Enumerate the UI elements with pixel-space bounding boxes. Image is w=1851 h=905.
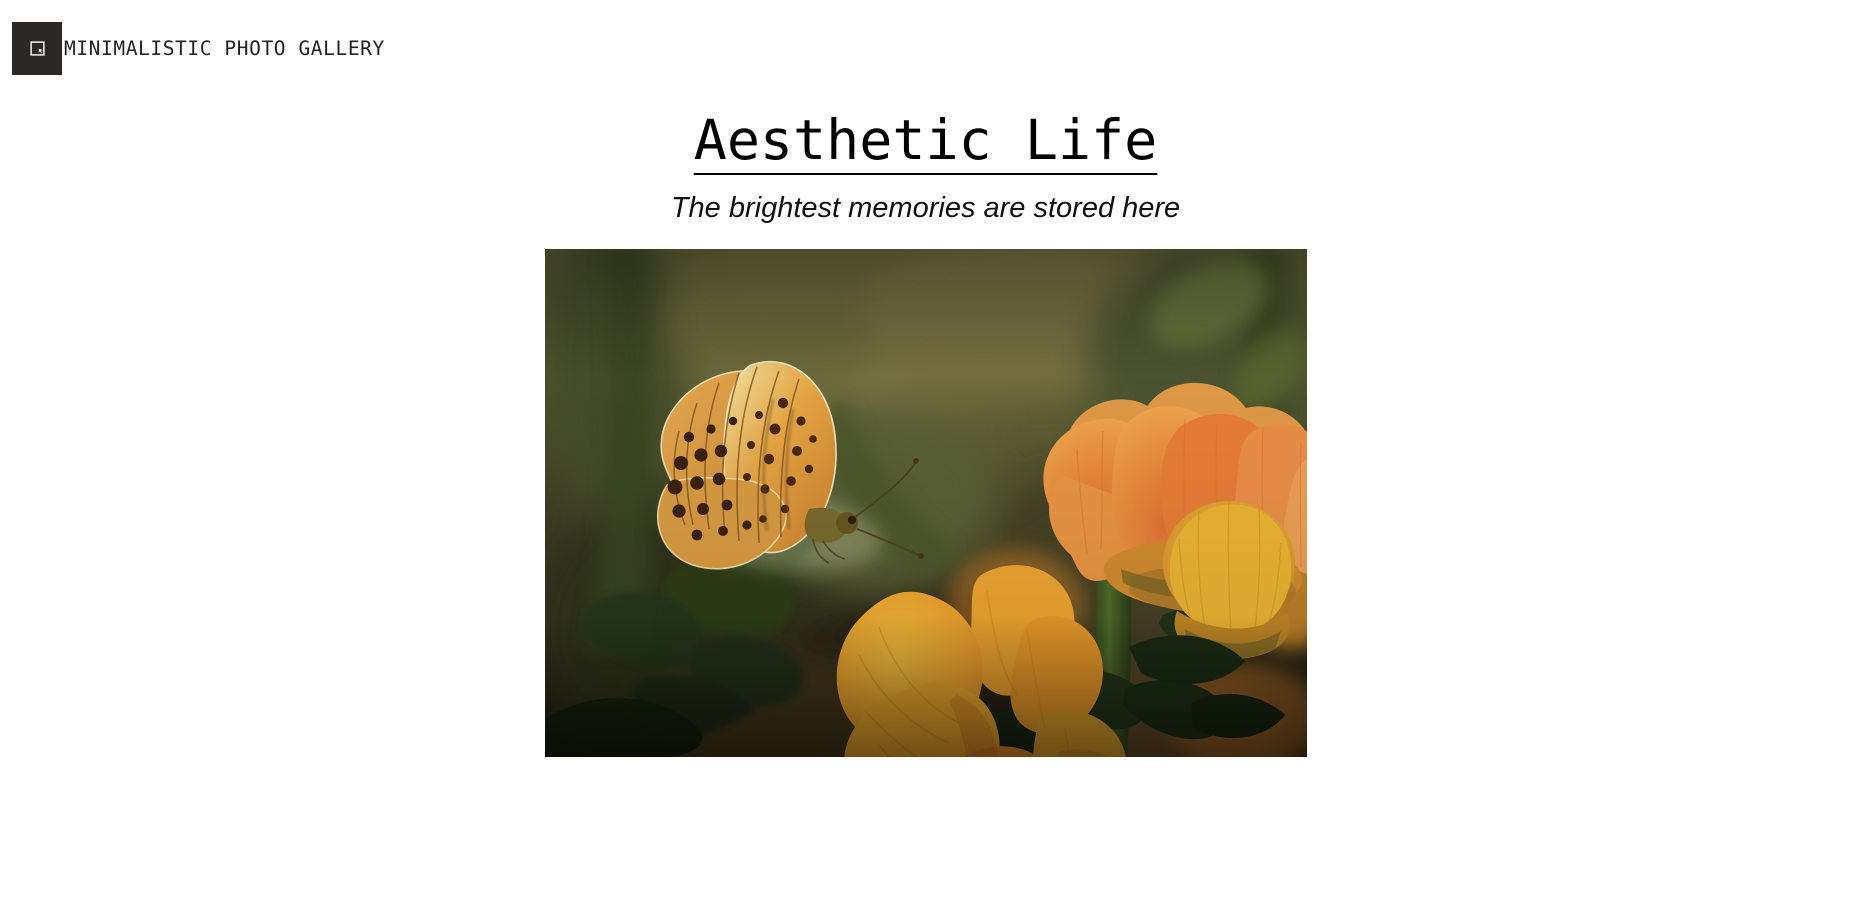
gallery-photo[interactable] (545, 249, 1307, 757)
page-title: Aesthetic Life (694, 112, 1158, 170)
page-subtitle: The brightest memories are stored here (671, 193, 1180, 225)
hero-section: Aesthetic Life The brightest memories ar… (0, 0, 1851, 757)
photo-illustration (545, 249, 1307, 757)
